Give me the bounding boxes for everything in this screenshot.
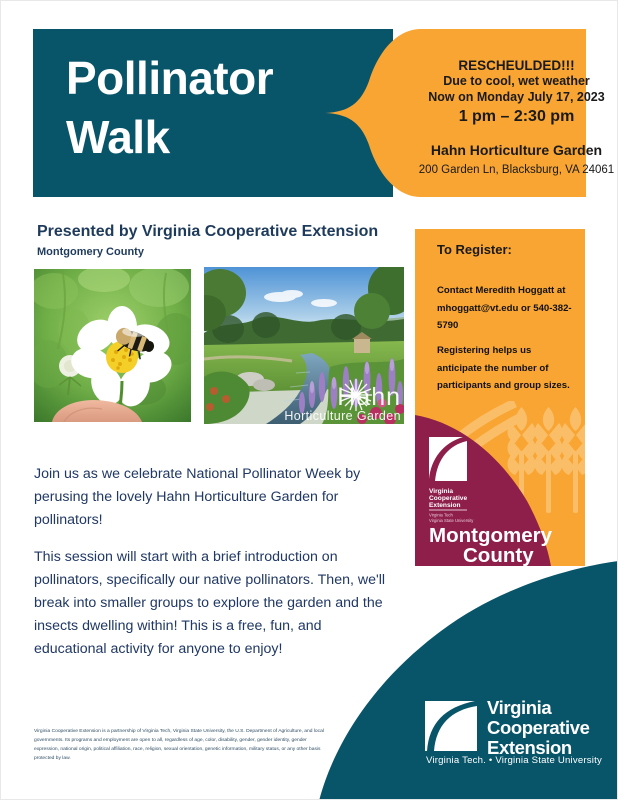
event-date: Now on Monday July 17, 2023	[413, 90, 618, 106]
svg-text:Extension: Extension	[429, 502, 461, 509]
reschedule-reason: Due to cool, wet weather	[413, 74, 618, 90]
vce-word-line-1: Virginia	[487, 698, 590, 718]
title-line-2: Walk	[66, 108, 376, 167]
page-title: Pollinator Walk	[66, 49, 376, 167]
photo-bee-on-flower	[34, 269, 191, 422]
vce-footer-logo: Virginia Cooperative Extension Virginia …	[425, 698, 597, 770]
body-paragraph-1: Join us as we celebrate National Pollina…	[34, 463, 386, 532]
register-panel: To Register: Contact Meredith Hoggatt at…	[415, 229, 585, 566]
reschedule-callout: RESCHEULDED!!! Due to cool, wet weather …	[413, 57, 618, 180]
photo-hahn-garden: Hahn Horticulture Garden	[204, 267, 404, 424]
presented-by-organization: Presented by Virginia Cooperative Extens…	[37, 223, 378, 241]
svg-text:Virginia Tech: Virginia Tech	[429, 513, 453, 518]
vce-word-line-2: Cooperative	[487, 718, 590, 738]
svg-text:Virginia: Virginia	[429, 488, 453, 495]
body-copy: Join us as we celebrate National Pollina…	[34, 463, 386, 675]
register-note: Registering helps us anticipate the numb…	[437, 342, 577, 395]
vce-mark-icon	[425, 701, 480, 751]
svg-text:County: County	[463, 544, 534, 566]
event-address: 200 Garden Ln, Blacksburg, VA 24061	[413, 162, 618, 179]
title-line-1: Pollinator	[66, 49, 376, 108]
vce-tagline: Virginia Tech. • Virginia State Universi…	[426, 755, 602, 766]
svg-text:Cooperative: Cooperative	[429, 495, 467, 502]
event-venue: Hahn Horticulture Garden	[413, 142, 618, 160]
register-heading: To Register:	[437, 242, 512, 257]
vce-wordmark: Virginia Cooperative Extension	[487, 698, 590, 757]
body-paragraph-2: This session will start with a brief int…	[34, 546, 386, 661]
montgomery-county-logo: Virginia Cooperative Extension Virginia …	[415, 401, 585, 566]
event-time: 1 pm – 2:30 pm	[413, 107, 618, 127]
header-band: Pollinator Walk RESCHEULDED!!! Due to co…	[33, 29, 586, 197]
presented-by-county: Montgomery County	[37, 246, 378, 258]
reschedule-heading: RESCHEULDED!!!	[413, 57, 618, 74]
legal-fineprint: Virginia Cooperative Extension is a part…	[34, 727, 324, 763]
svg-text:Virginia State University: Virginia State University	[429, 518, 474, 523]
register-contact[interactable]: Contact Meredith Hoggatt at mhoggatt@vt.…	[437, 282, 579, 335]
presented-by-block: Presented by Virginia Cooperative Extens…	[37, 223, 378, 258]
flyer-page: Pollinator Walk RESCHEULDED!!! Due to co…	[0, 0, 618, 800]
